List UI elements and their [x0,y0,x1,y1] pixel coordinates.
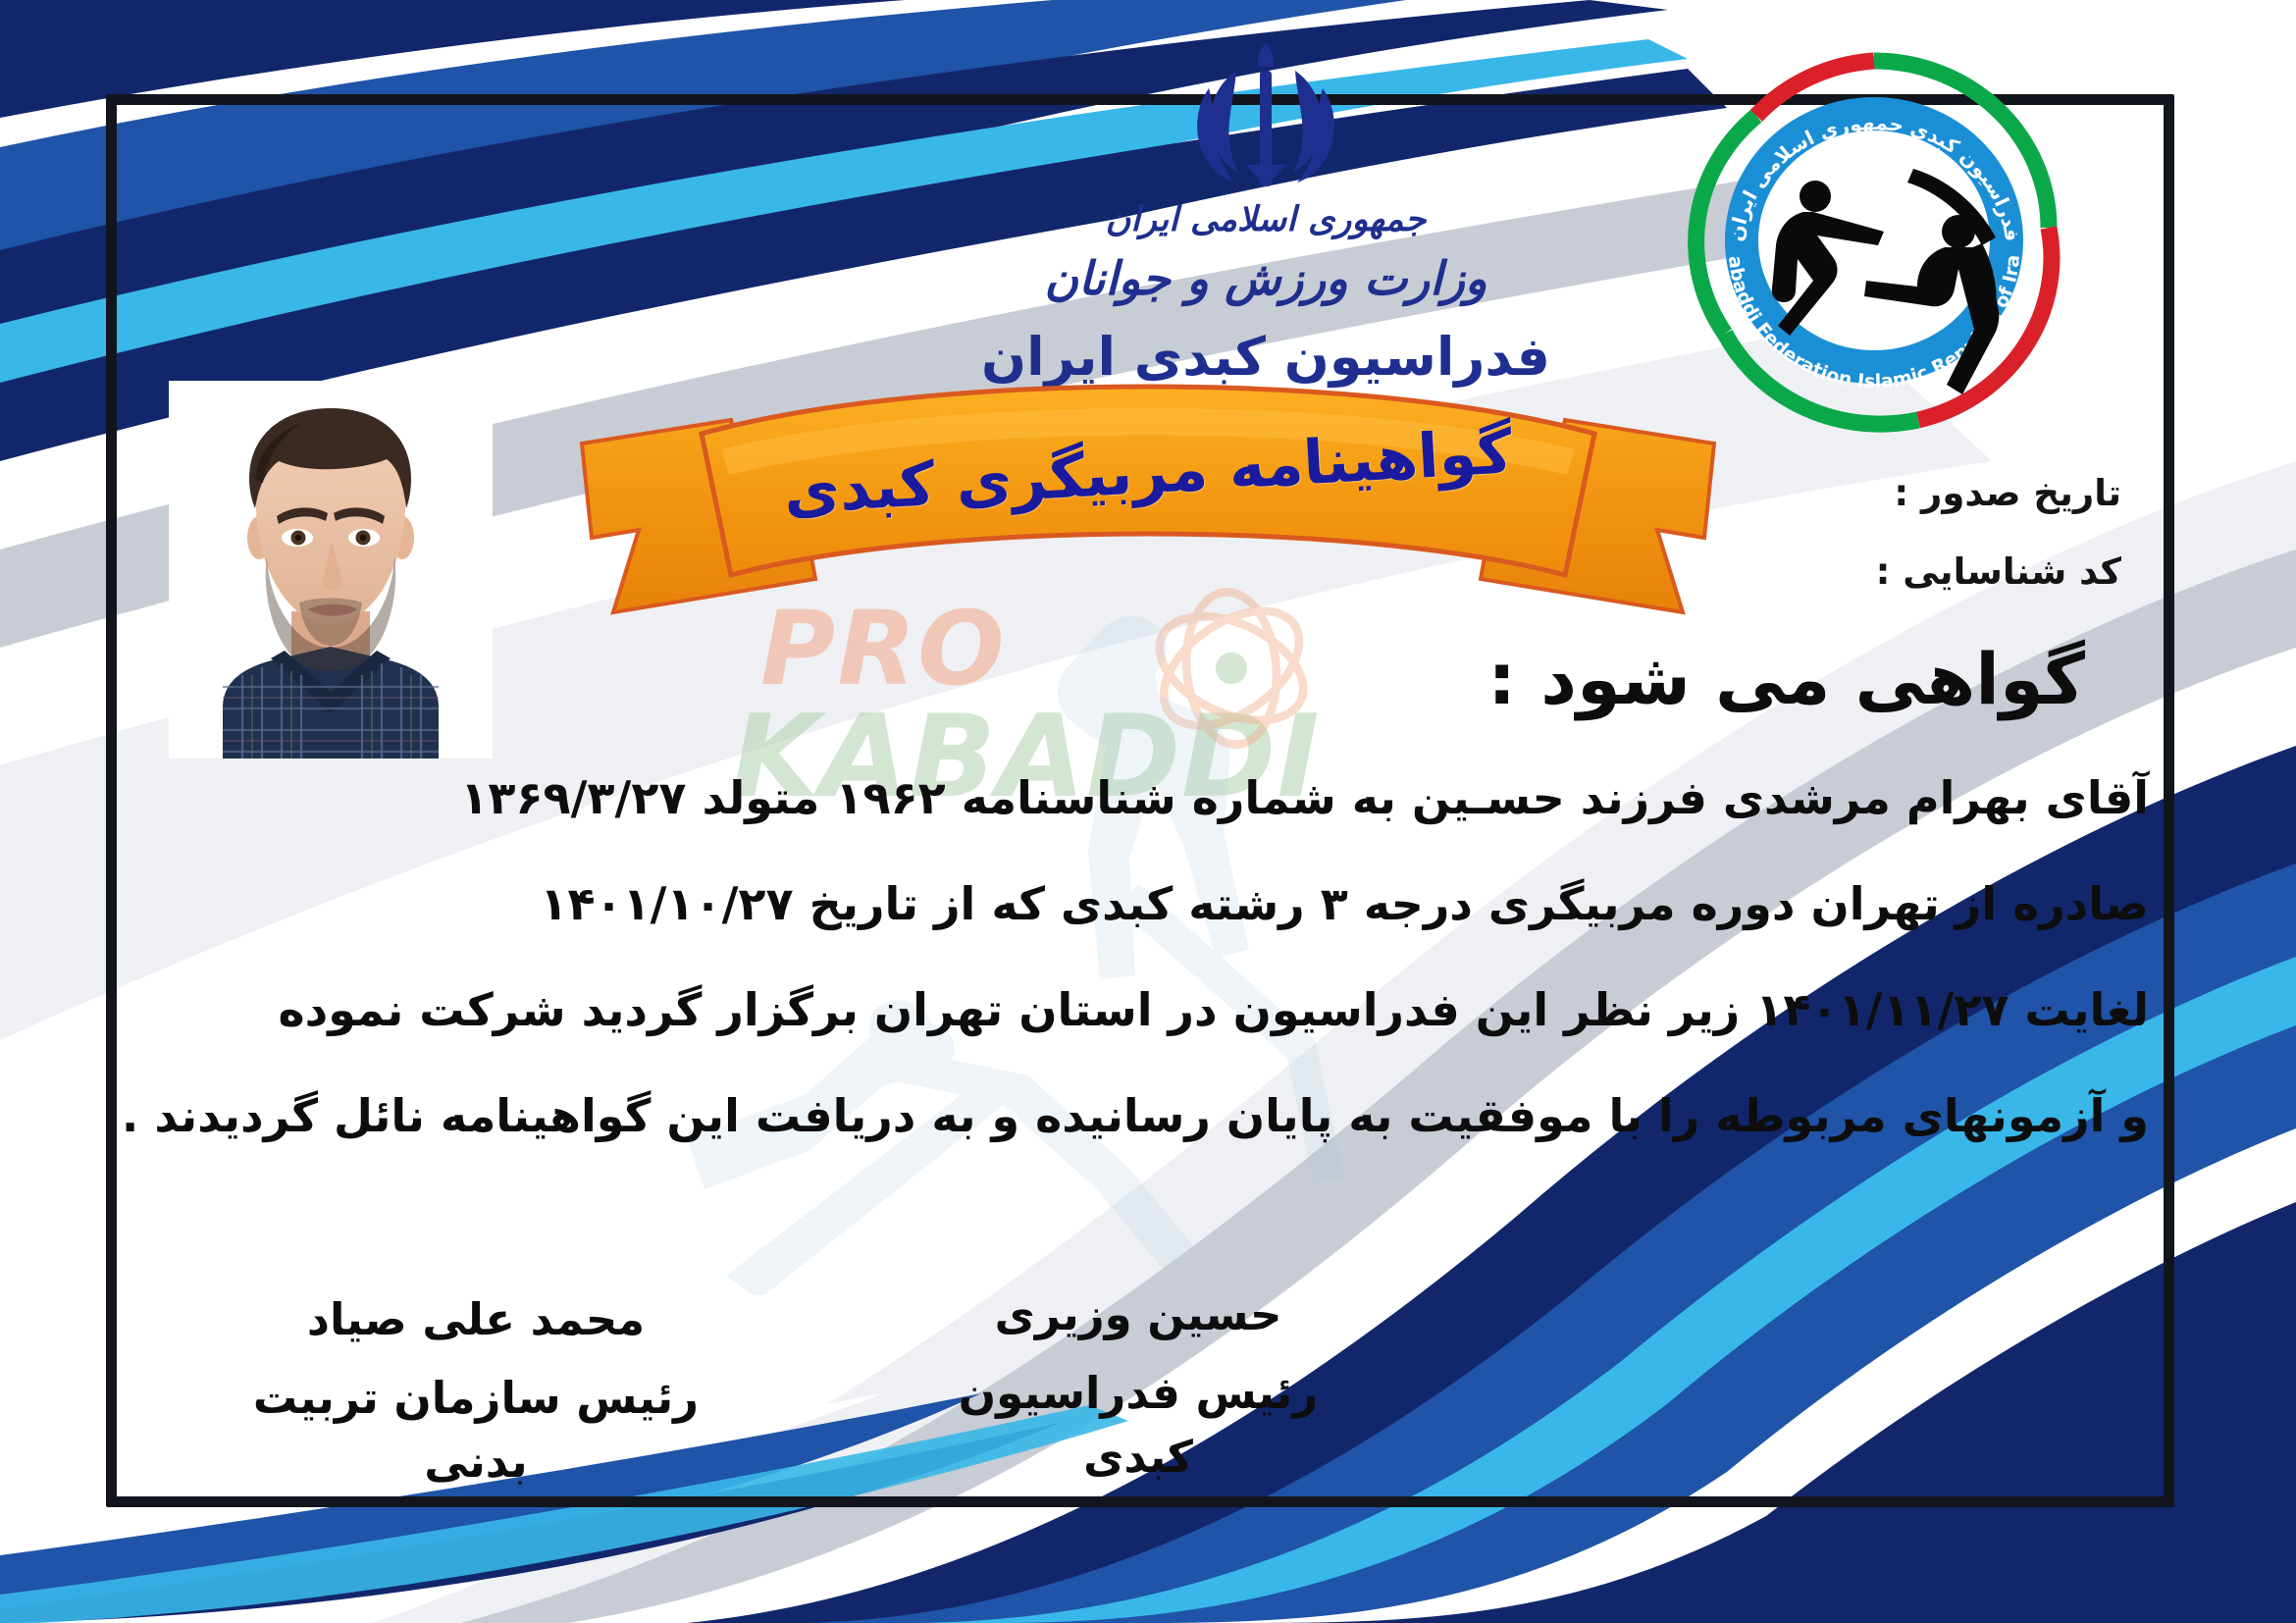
header-ministry-line: وزارت ورزش و جوانان [942,249,1590,309]
iran-national-emblem-icon [1187,37,1344,204]
header-block: جمهوری اسلامی ایران وزارت ورزش و جوانان … [942,37,1590,392]
header-country-line: جمهوری اسلامی ایران [942,198,1590,243]
certificate-body: آقای بهرام مرشدی فرزند حسـین به شماره شن… [196,775,2149,1199]
signature-federation-president: حسین وزیری رئیس فدراسیون کبدی [922,1285,1354,1489]
certificate-title-ribbon: گواهینامه مربیگری کبدی [574,373,1722,648]
signature-federation-title: رئیس فدراسیون کبدی [922,1361,1354,1490]
signature-pe-name: محمد علی صیاد [221,1290,731,1350]
certify-heading: گواهی می شود : [1202,638,2085,720]
body-line-2: صادره از تهران دوره مربیگری درجه ۳ رشته … [196,881,2149,926]
signature-pe-title: رئیس سازمان تربیت بدنی [221,1366,731,1494]
signature-physical-education-head: محمد علی صیاد رئیس سازمان تربیت بدنی [221,1290,731,1493]
certificate-meta-fields: تاریخ صدور : کد شناسایی : [1670,471,2121,629]
body-line-1: آقای بهرام مرشدی فرزند حسـین به شماره شن… [196,775,2149,820]
signature-federation-name: حسین وزیری [922,1285,1354,1345]
body-line-3: لغایت ۱۴۰۱/۱۱/۲۷ زیر نظر این فدراسیون در… [196,987,2149,1032]
holder-photo [169,381,493,759]
kabaddi-federation-logo-icon: فدراسیون کبدی جمهوری اسلامی ایران Kabadd… [1668,39,2080,451]
id-code-label: کد شناسایی : [1670,550,2121,595]
body-line-4: و آزمونهای مربوطه را با موفقیت به پایان … [196,1093,2149,1138]
issue-date-label: تاریخ صدور : [1670,471,2121,516]
